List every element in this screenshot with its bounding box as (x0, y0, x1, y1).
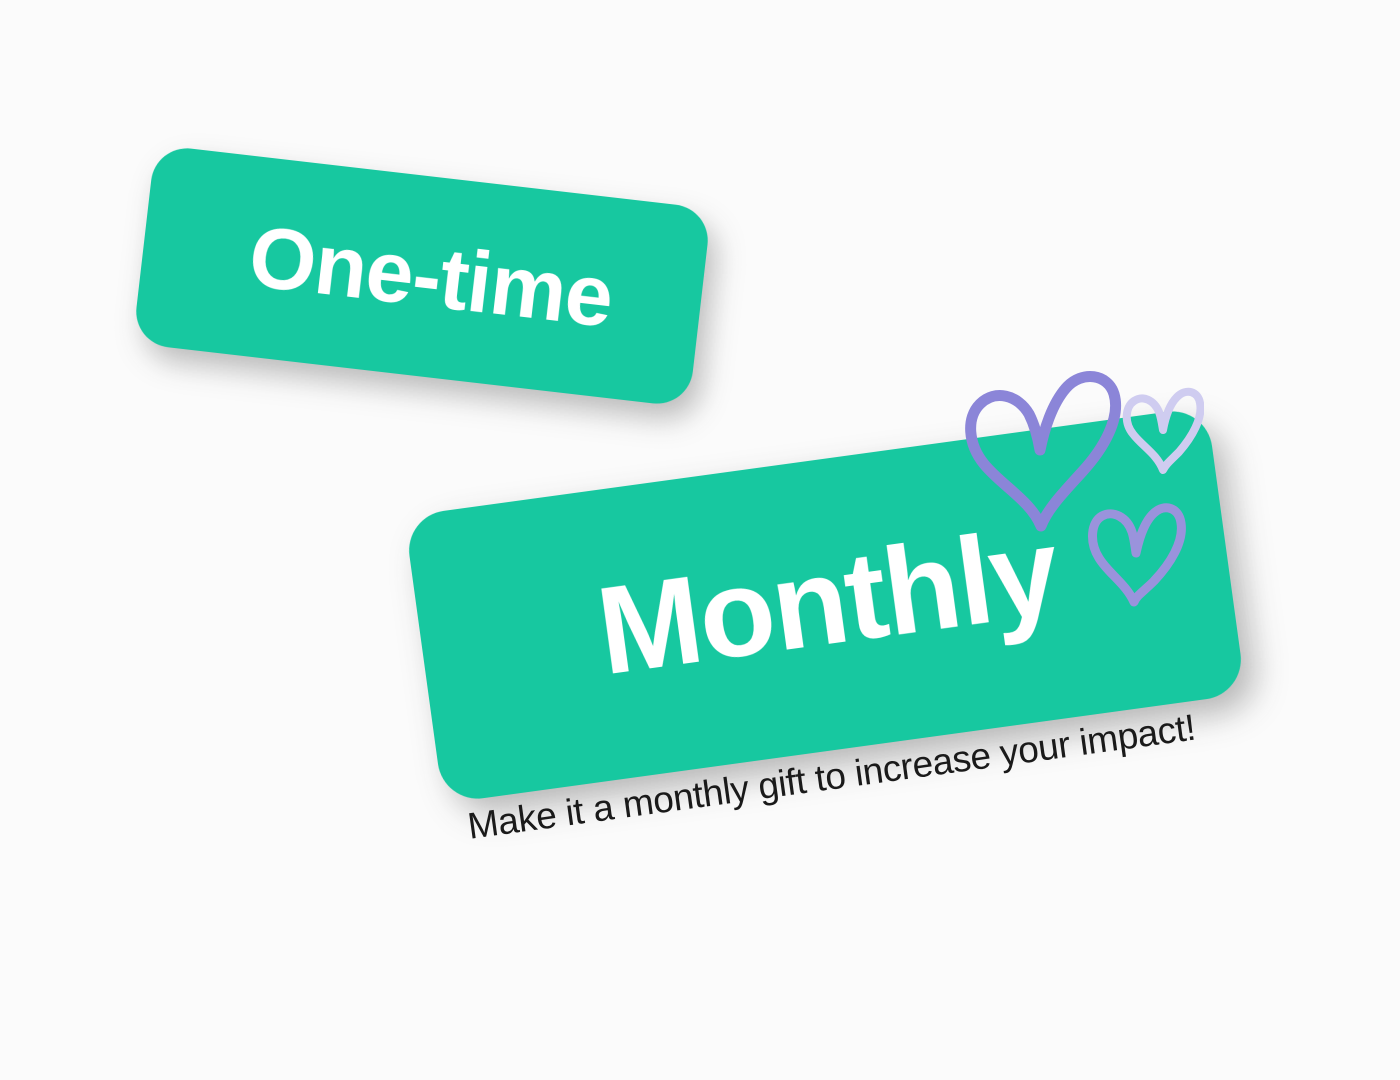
one-time-option-button[interactable]: One-time (132, 144, 711, 407)
one-time-option-label: One-time (139, 201, 705, 351)
canvas: One-time Monthly Make it a monthly gift … (0, 0, 1400, 1080)
monthly-option-label: Monthly (415, 486, 1235, 725)
